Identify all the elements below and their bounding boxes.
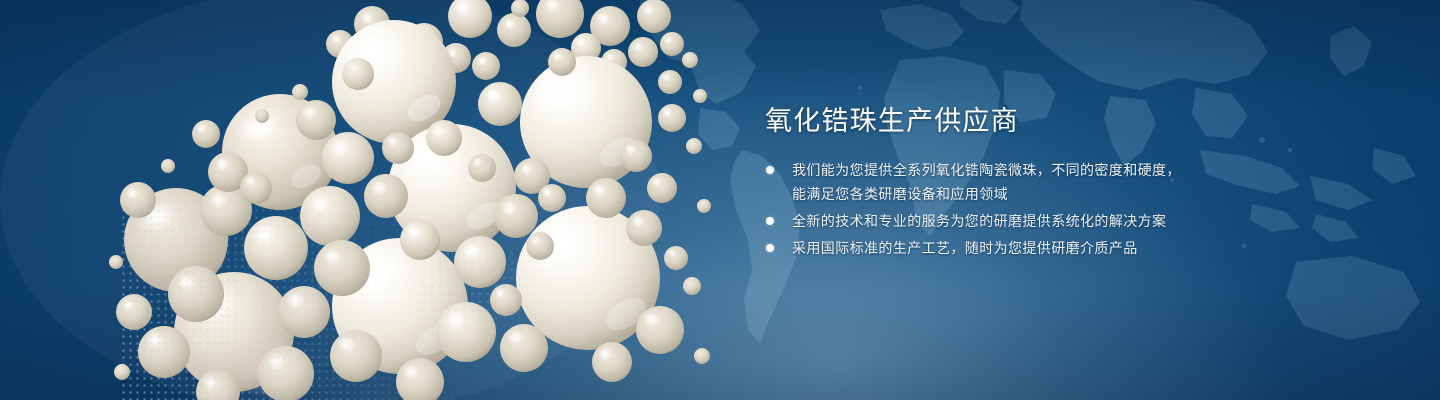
zirconia-beads-image — [0, 0, 720, 400]
banner-headline: 氧化锆珠生产供应商 — [765, 104, 1285, 138]
banner-bullet-list: 我们能为您提供全系列氧化锆陶瓷微珠，不同的密度和硬度， 能满足您各类研磨设备和应… — [765, 158, 1285, 260]
banner-copy: 氧化锆珠生产供应商 我们能为您提供全系列氧化锆陶瓷微珠，不同的密度和硬度， 能满… — [765, 104, 1285, 263]
bullet-line-1: 全新的技术和专业的服务为您的研磨提供系统化的解决方案 — [792, 213, 1166, 229]
bullet-dot-icon — [766, 244, 774, 252]
list-item: 全新的技术和专业的服务为您的研磨提供系统化的解决方案 — [765, 209, 1285, 233]
list-item: 采用国际标准的生产工艺，随时为您提供研磨介质产品 — [765, 236, 1285, 260]
bullet-dot-icon — [766, 166, 774, 174]
bullet-dot-icon — [766, 217, 774, 225]
bullet-line-2: 能满足您各类研磨设备和应用领域 — [792, 182, 1285, 206]
list-item: 我们能为您提供全系列氧化锆陶瓷微珠，不同的密度和硬度， 能满足您各类研磨设备和应… — [765, 158, 1285, 206]
bullet-line-1: 采用国际标准的生产工艺，随时为您提供研磨介质产品 — [792, 240, 1138, 256]
hero-banner: 氧化锆珠生产供应商 我们能为您提供全系列氧化锆陶瓷微珠，不同的密度和硬度， 能满… — [0, 0, 1440, 400]
bullet-line-1: 我们能为您提供全系列氧化锆陶瓷微珠，不同的密度和硬度， — [792, 162, 1181, 178]
